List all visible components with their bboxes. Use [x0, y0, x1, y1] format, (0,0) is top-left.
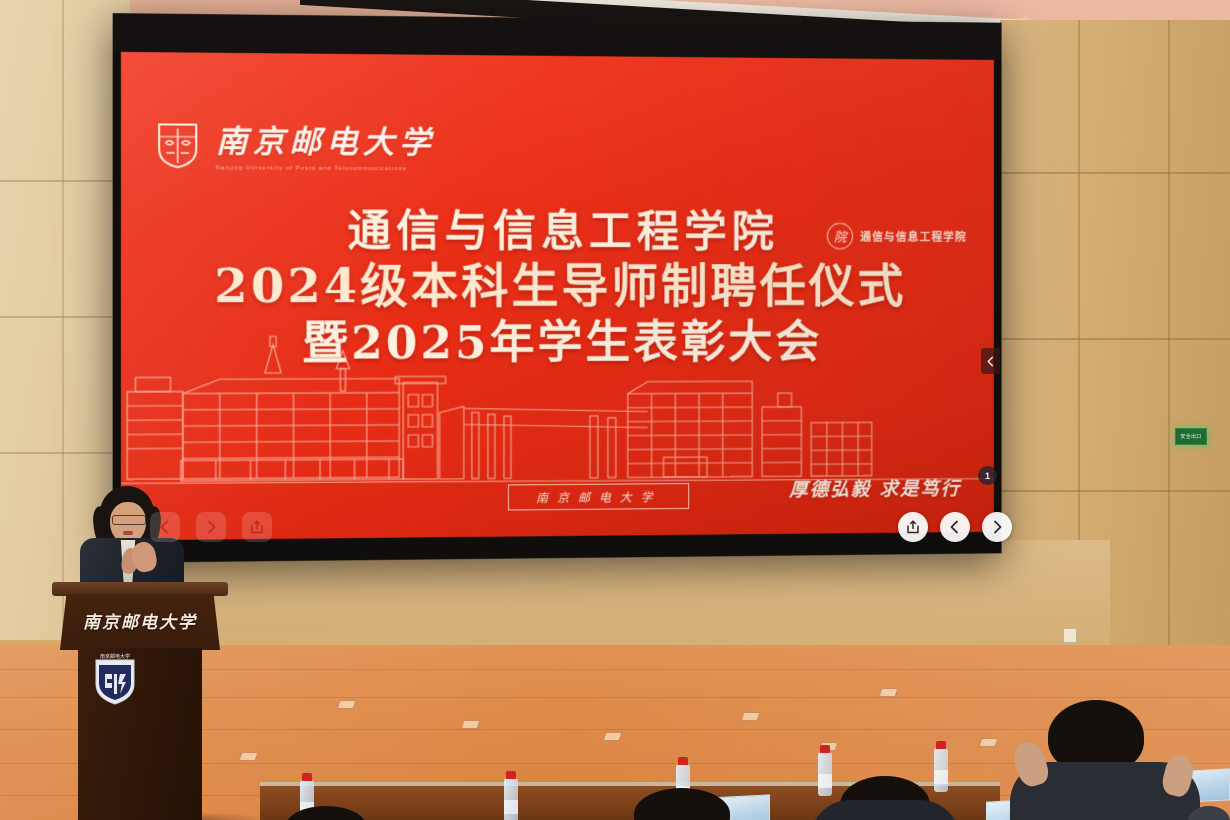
- lectern: 南京邮电大学 南京邮电大学: [52, 582, 228, 820]
- university-name-en: Nanjing University of Posts and Telecomm…: [216, 165, 436, 172]
- campus-gate-sign: 南京邮电大学: [508, 483, 689, 510]
- exit-sign: 安全出口: [1175, 428, 1207, 445]
- wall-switch-plate[interactable]: [1063, 628, 1077, 643]
- water-bottle: [818, 752, 832, 796]
- university-motto: 厚德弘毅 求是笃行: [789, 474, 961, 502]
- water-bottle: [504, 778, 518, 820]
- floor-outlet: [603, 732, 623, 741]
- water-bottle: [934, 748, 948, 792]
- title-line-1: 通信与信息工程学院: [121, 205, 994, 259]
- next-button-ghost[interactable]: [196, 512, 226, 542]
- share-button[interactable]: [898, 512, 928, 542]
- collapse-panel-tab[interactable]: [981, 348, 1000, 374]
- glasses-icon: [112, 515, 146, 525]
- svg-text:南京邮电大学: 南京邮电大学: [100, 653, 130, 660]
- floor-outlet: [979, 738, 999, 747]
- title-line-2: 2024级本科生导师制聘任仪式: [121, 258, 994, 316]
- exit-sign-label: 安全出口: [1180, 433, 1201, 440]
- floor-outlet: [337, 700, 357, 709]
- floor-outlet: [741, 712, 761, 721]
- floor-outlet: [461, 720, 481, 729]
- previous-button[interactable]: [940, 512, 970, 542]
- screenshot-root: 安全出口 南京邮电大学 Nanjing University: [0, 0, 1230, 820]
- share-button-ghost[interactable]: [242, 512, 272, 542]
- previous-button-ghost[interactable]: [150, 512, 180, 542]
- floor-outlet: [879, 688, 899, 697]
- page-indicator-badge[interactable]: 1: [978, 466, 997, 485]
- floor-outlet: [239, 752, 259, 761]
- media-controls[interactable]: [898, 512, 1012, 542]
- university-crest-icon: 南京邮电大学: [92, 652, 138, 706]
- university-wordmark: 南京邮电大学 Nanjing University of Posts and T…: [156, 115, 435, 172]
- led-screen: 南京邮电大学 Nanjing University of Posts and T…: [113, 13, 1002, 563]
- lectern-name-text: 南京邮电大学: [60, 608, 220, 633]
- shield-crest-icon: [156, 118, 199, 169]
- university-name-cn: 南京邮电大学: [216, 116, 436, 163]
- media-controls-ghost[interactable]: [150, 512, 272, 542]
- screen-content: 南京邮电大学 Nanjing University of Posts and T…: [121, 52, 994, 543]
- campus-gate-sign-text: 南京邮电大学: [536, 488, 661, 506]
- next-button[interactable]: [982, 512, 1012, 542]
